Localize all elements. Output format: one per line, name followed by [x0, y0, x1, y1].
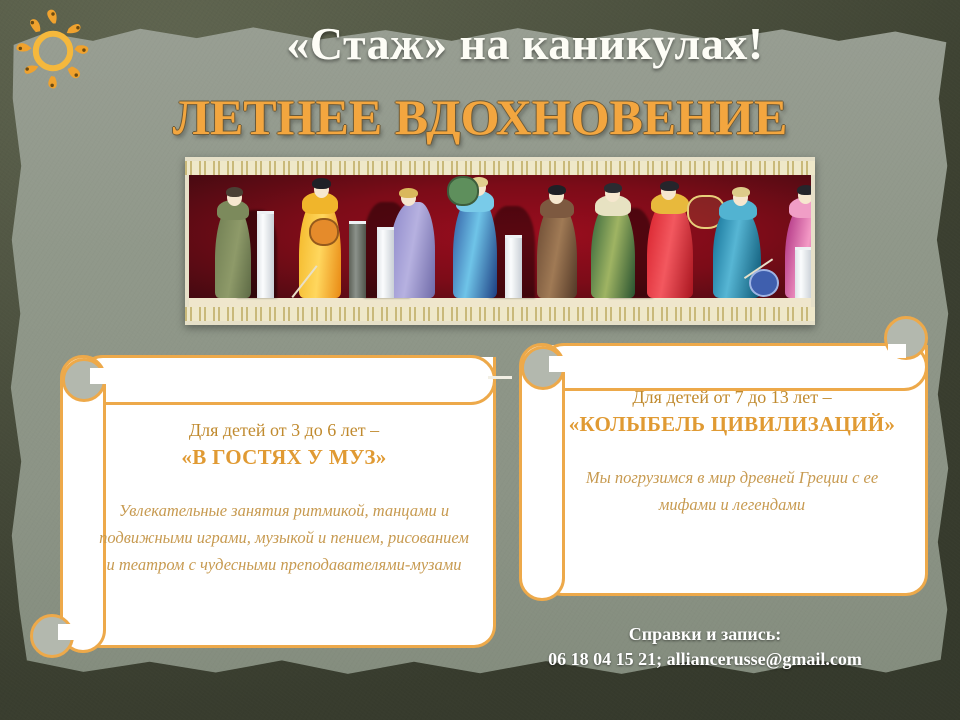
card-right-lead: Для детей от 7 до 13 лет –	[556, 385, 908, 410]
meander-border-top	[185, 161, 815, 175]
card-left-lead: Для детей от 3 до 6 лет –	[96, 418, 472, 443]
curl-mouth	[90, 368, 108, 384]
meander-border-bottom	[185, 307, 815, 321]
muse-figure	[643, 180, 697, 298]
card-right-name: «КОЛЫБЕЛЬ ЦИВИЛИЗАЦИЙ»	[556, 410, 908, 438]
muse-figure	[449, 175, 503, 298]
muse-figure	[533, 184, 581, 298]
card-left-top-roll	[78, 355, 496, 405]
curl-mouth	[549, 356, 567, 372]
contact-details[interactable]: 06 18 04 15 21; alliancerusse@gmail.com	[470, 647, 940, 672]
muse-figure	[211, 186, 255, 298]
curl-mouth	[58, 624, 78, 640]
globe-icon	[749, 269, 779, 297]
card-connector	[488, 376, 512, 379]
contact-block: Справки и запись: 06 18 04 15 21; allian…	[470, 622, 940, 672]
card-left-description: Увлекательные занятия ритмикой, танцами …	[96, 497, 472, 578]
greek-muses-frieze	[185, 157, 815, 325]
poster-title: «Стаж» на каникулах!	[110, 16, 940, 72]
frieze-ground	[189, 298, 811, 307]
poster-subtitle: ЛЕТНЕЕ ВДОХНОВЕНИЕ	[0, 88, 960, 146]
card-right-top-roll	[540, 343, 928, 391]
muse-figure	[295, 176, 347, 298]
card-left-name: «В ГОСТЯХ У МУЗ»	[96, 443, 472, 471]
contact-label: Справки и запись:	[470, 622, 940, 647]
poster-root: «Стаж» на каникулах! ЛЕТНЕЕ ВДОХНОВЕНИЕ	[0, 0, 960, 720]
card-right-description: Мы погрузимся в мир древней Греции с ее …	[556, 464, 908, 518]
sun-birds-logo	[10, 8, 96, 94]
muse-figure	[587, 182, 639, 298]
curl-mouth	[888, 344, 906, 358]
frieze-scene	[189, 175, 811, 307]
